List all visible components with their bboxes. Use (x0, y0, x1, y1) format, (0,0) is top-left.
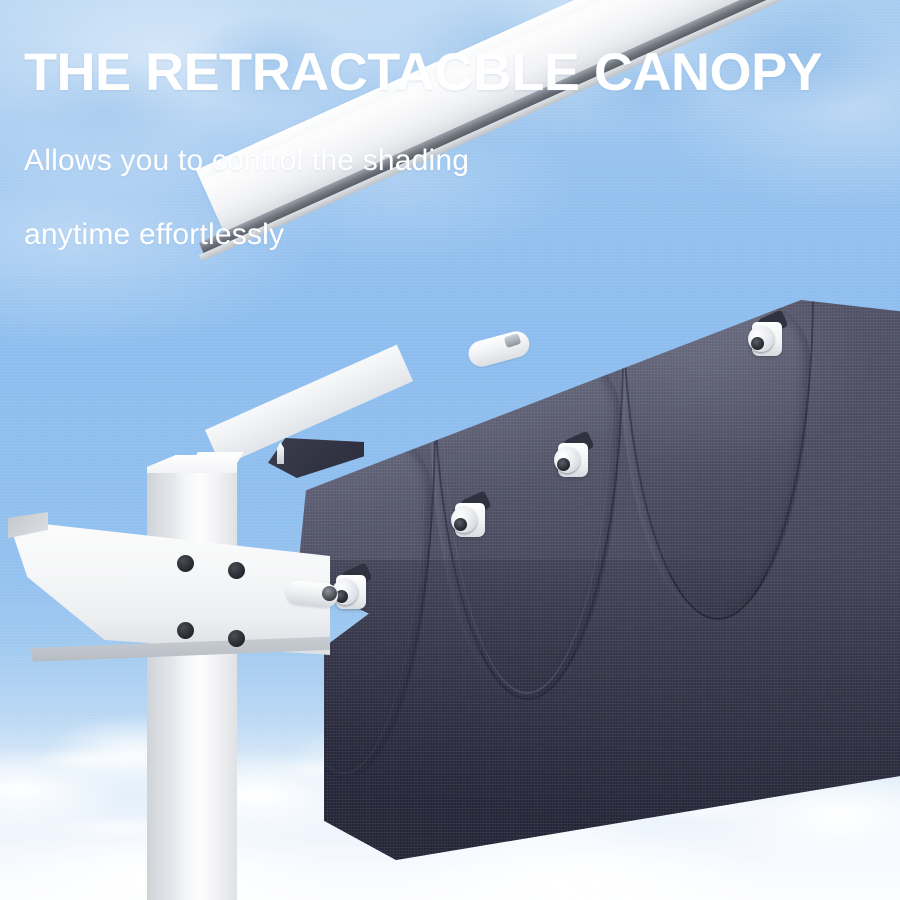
selected-text-anytime[interactable]: anytime (24, 218, 130, 252)
page-title: THE RETRACTACBLE CANOPY (24, 46, 822, 99)
subtitle-line-2: anytime effortlessly (24, 218, 284, 252)
subtitle-line-1: Allows you to control the shading (24, 144, 469, 178)
text-overlay: THE RETRACTACBLE CANOPY Allows you to co… (0, 0, 900, 900)
promo-image-canvas: THE RETRACTACBLE CANOPY Allows you to co… (0, 0, 900, 900)
subtitle-line-2-rest: effortlessly (130, 218, 284, 251)
